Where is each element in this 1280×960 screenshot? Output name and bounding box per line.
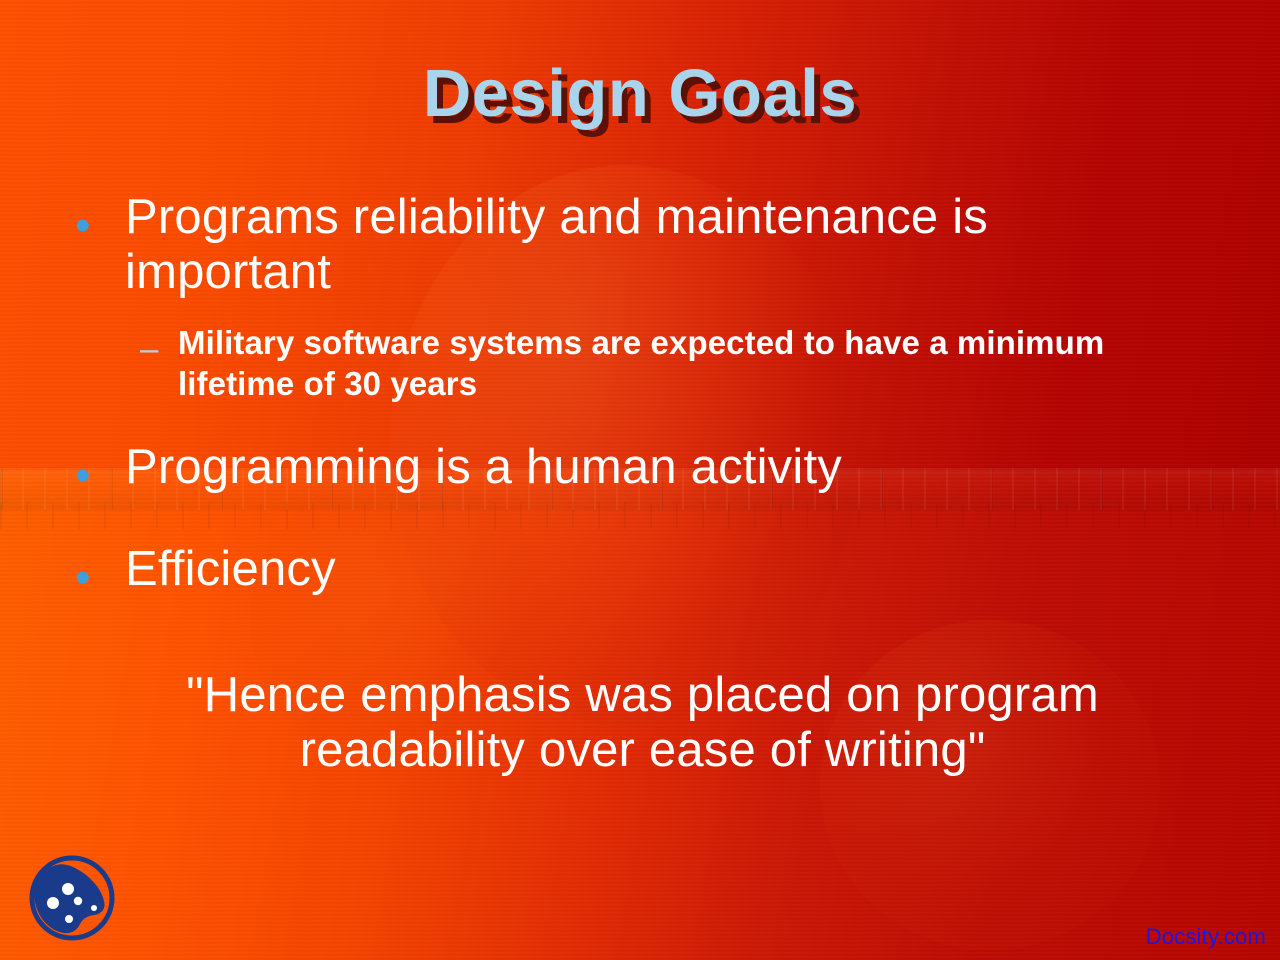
spacer [0, 404, 1280, 440]
spacer [0, 498, 1280, 542]
bullet-dot-icon: • [75, 440, 125, 498]
bullet-item: • Programs reliability and maintenance i… [0, 190, 1280, 300]
sub-bullet-dash-icon: – [140, 322, 178, 365]
slide-title: Design Goals [0, 55, 1280, 132]
bullet-text: Programming is a human activity [125, 440, 1125, 495]
southern-cross-logo-icon [22, 848, 122, 948]
bullet-list: • Programs reliability and maintenance i… [0, 190, 1280, 600]
bullet-dot-icon: • [75, 190, 125, 248]
bullet-item: • Programming is a human activity [0, 440, 1280, 498]
sub-bullet-text: Military software systems are expected t… [178, 322, 1178, 405]
bullet-text: Efficiency [125, 542, 1125, 597]
presentation-slide: Design Goals • Programs reliability and … [0, 0, 1280, 960]
bullet-dot-icon: • [75, 542, 125, 600]
slide-content: Design Goals • Programs reliability and … [0, 0, 1280, 960]
bullet-text: Programs reliability and maintenance is … [125, 190, 1125, 300]
docsity-watermark: Docsity.com [1146, 924, 1266, 950]
closing-quote: "Hence emphasis was placed on program re… [95, 668, 1190, 778]
sub-bullet-item: – Military software systems are expected… [0, 322, 1280, 405]
bullet-item: • Efficiency [0, 542, 1280, 600]
southern-cross-logo [22, 848, 122, 948]
